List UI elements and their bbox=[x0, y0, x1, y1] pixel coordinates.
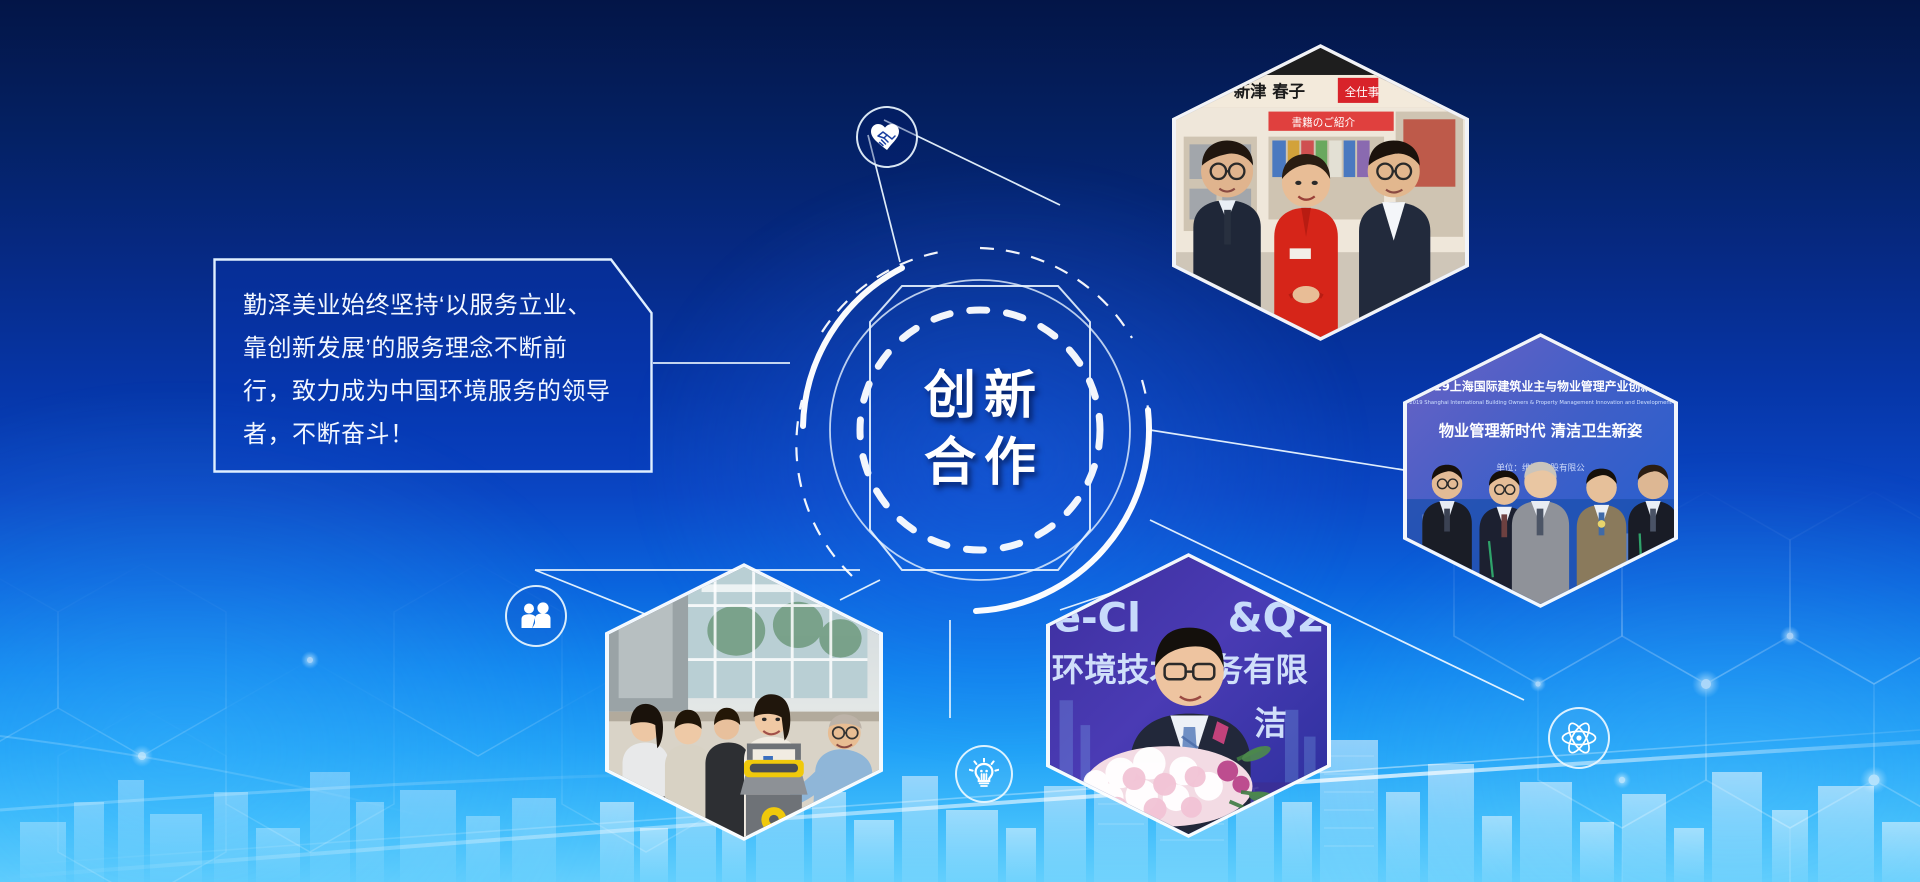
hub-title-line-1: 创新 bbox=[916, 363, 1044, 430]
hub-title-line-2: 合作 bbox=[916, 430, 1044, 497]
banner-stage: 勤泽美业始终坚持‘以服务立业、 靠创新发展’的服务理念不断前 行，致力成为中国环… bbox=[0, 0, 1920, 882]
statement-line-3: 行，致力成为中国环境服务的领导 bbox=[243, 370, 627, 413]
handshake-heart-icon bbox=[870, 122, 904, 152]
svg-text:書籍のご紹介: 書籍のご紹介 bbox=[1292, 116, 1356, 129]
statement-line-2: 靠创新发展’的服务理念不断前 bbox=[243, 327, 627, 370]
lightbulb-icon bbox=[969, 758, 999, 790]
statement-line-4: 者，不断奋斗！ bbox=[243, 413, 627, 456]
node-handshake[interactable] bbox=[856, 106, 918, 168]
svg-text:2019 Shanghai International Bu: 2019 Shanghai International Building Own… bbox=[1409, 400, 1671, 406]
svg-text:全仕事: 全仕事 bbox=[1345, 85, 1380, 99]
svg-text:务有限: 务有限 bbox=[1210, 651, 1308, 689]
svg-text:2019上海国际建筑业主与物业管理产业创新发: 2019上海国际建筑业主与物业管理产业创新发 bbox=[1417, 379, 1665, 393]
two-people-icon bbox=[519, 602, 553, 630]
svg-text:物业管理新时代 清洁卫生新姿: 物业管理新时代 清洁卫生新姿 bbox=[1439, 422, 1643, 440]
center-hub: 创新 合作 bbox=[790, 240, 1170, 620]
node-idea[interactable] bbox=[955, 745, 1013, 803]
statement-panel: 勤泽美业始终坚持‘以服务立业、 靠创新发展’的服务理念不断前 行，致力成为中国环… bbox=[213, 258, 653, 473]
node-atom[interactable] bbox=[1548, 707, 1610, 769]
svg-text:洁: 洁 bbox=[1254, 705, 1286, 743]
node-people[interactable] bbox=[505, 585, 567, 647]
statement-line-1: 勤泽美业始终坚持‘以服务立业、 bbox=[243, 284, 627, 327]
atom-icon bbox=[1561, 721, 1597, 755]
hub-title: 创新 合作 bbox=[790, 240, 1170, 620]
statement-text: 勤泽美业始终坚持‘以服务立业、 靠创新发展’的服务理念不断前 行，致力成为中国环… bbox=[213, 258, 653, 473]
